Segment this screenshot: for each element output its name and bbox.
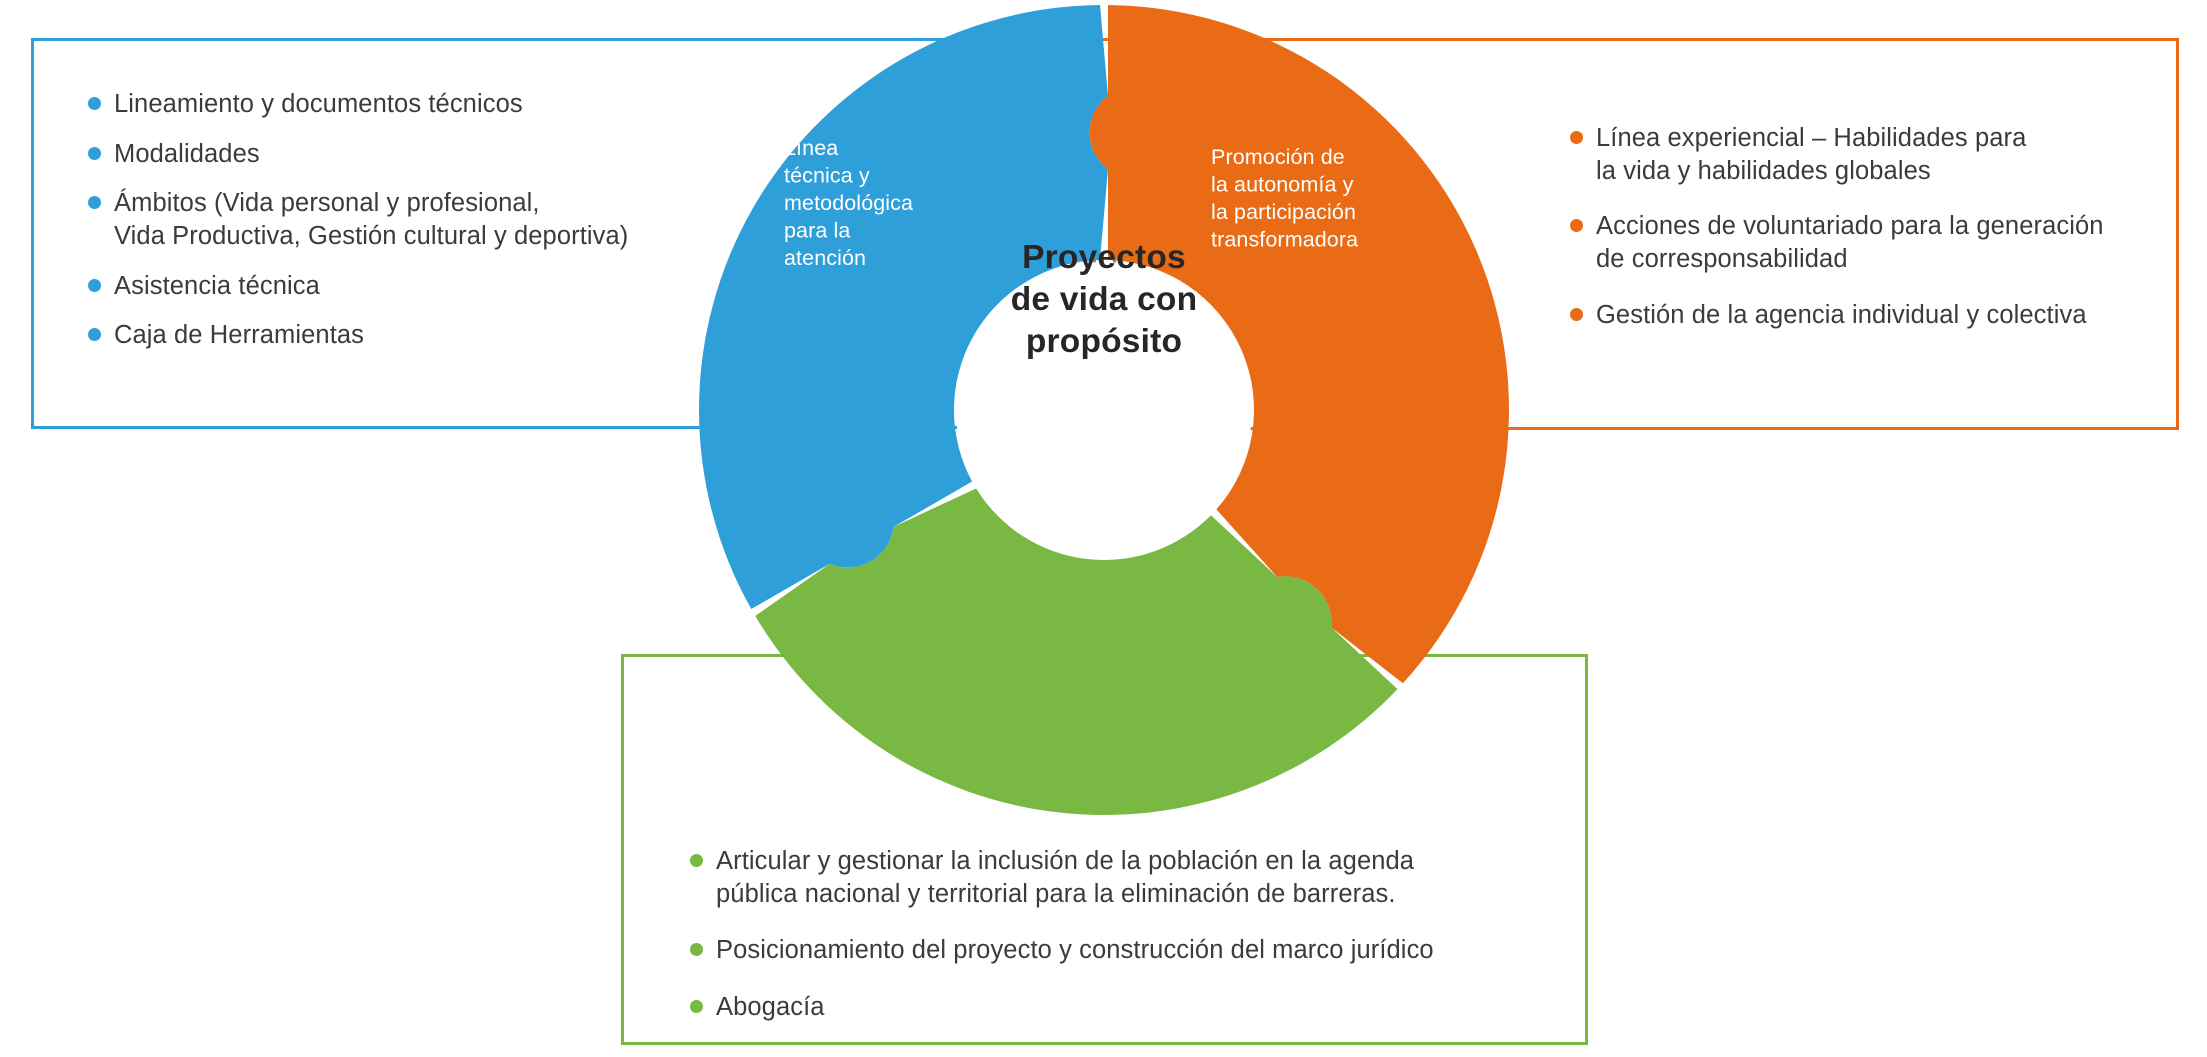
list-item-label: Línea experiencial – Habilidades para la… [1596, 122, 2026, 187]
list-item: Línea experiencial – Habilidades para la… [1570, 122, 2170, 187]
list-item-label: Asistencia técnica [114, 270, 320, 303]
puzzle-donut-chart: Proyectosde vida conpropósito Líneatécni… [699, 0, 1509, 820]
diagram-canvas: Lineamiento y documentos técnicos Modali… [0, 0, 2207, 1057]
bullet-dot-icon [1570, 308, 1583, 321]
list-item-label: Caja de Herramientas [114, 319, 364, 352]
bullet-dot-icon [690, 1000, 703, 1013]
bullet-dot-icon [1570, 219, 1583, 232]
list-item-label: Gestión de la agencia individual y colec… [1596, 299, 2087, 332]
list-item-label: Lineamiento y documentos técnicos [114, 88, 523, 121]
bullet-dot-icon [88, 328, 101, 341]
list-item-label: Articular y gestionar la inclusión de la… [716, 845, 1414, 910]
bullet-dot-icon [690, 943, 703, 956]
list-item: Gestión de la agencia individual y colec… [1570, 299, 2170, 332]
list-item-label: Ámbitos (Vida personal y profesional, Vi… [114, 187, 628, 252]
bullet-list-green: Articular y gestionar la inclusión de la… [690, 845, 1550, 1048]
bullet-list-orange: Línea experiencial – Habilidades para la… [1570, 122, 2170, 354]
list-item: Posicionamiento del proyecto y construcc… [690, 934, 1550, 967]
list-item-label: Abogacía [716, 991, 825, 1024]
list-item-label: Acciones de voluntariado para la generac… [1596, 210, 2104, 275]
bullet-dot-icon [88, 196, 101, 209]
center-title: Proyectosde vida conpropósito [1011, 239, 1198, 360]
list-item: Abogacía [690, 991, 1550, 1024]
list-item-label: Posicionamiento del proyecto y construcc… [716, 934, 1434, 967]
bullet-dot-icon [88, 147, 101, 160]
list-item: Articular y gestionar la inclusión de la… [690, 845, 1550, 910]
bullet-dot-icon [1570, 131, 1583, 144]
list-item: Acciones de voluntariado para la generac… [1570, 210, 2170, 275]
bullet-dot-icon [88, 279, 101, 292]
bullet-dot-icon [88, 97, 101, 110]
list-item-label: Modalidades [114, 138, 260, 171]
bullet-dot-icon [690, 854, 703, 867]
